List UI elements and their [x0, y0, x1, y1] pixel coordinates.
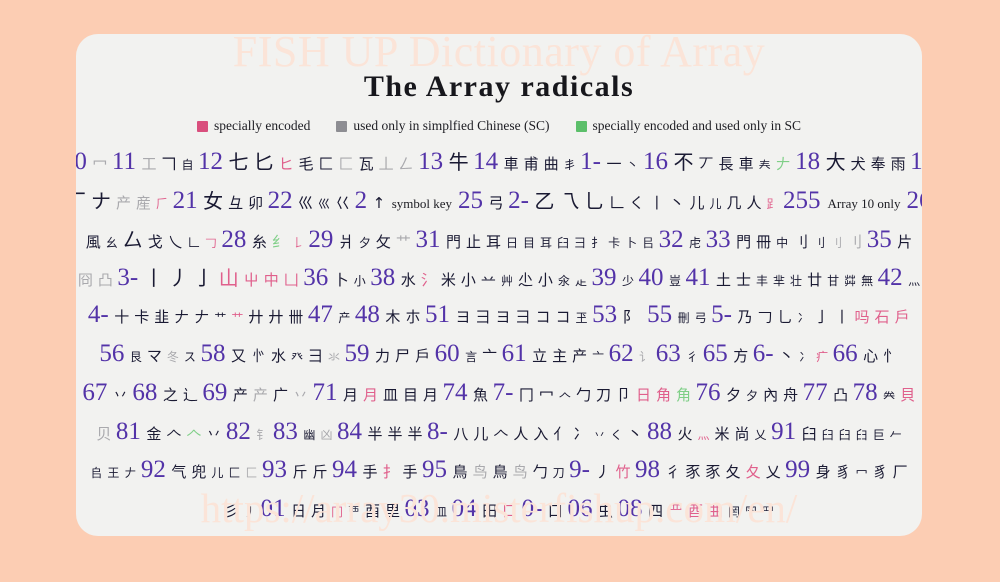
radical-glyph[interactable]: コ	[556, 306, 571, 327]
radical-glyph[interactable]: 刂	[793, 231, 808, 252]
radical-glyph[interactable]: 厂	[76, 185, 86, 214]
radical-code[interactable]: 59	[345, 340, 370, 368]
radical-glyph[interactable]: 冬	[167, 348, 179, 365]
radical-code[interactable]: 31	[415, 226, 440, 254]
radical-glyph[interactable]: 卡	[608, 234, 620, 251]
radical-glyph[interactable]: 丶	[669, 192, 684, 213]
radical-glyph[interactable]: 勹	[576, 384, 591, 405]
radical-glyph[interactable]: 丿	[244, 503, 256, 520]
radical-glyph[interactable]: 乚	[584, 185, 604, 214]
radical-glyph[interactable]: 臼	[822, 426, 834, 443]
radical-glyph[interactable]: 無	[861, 272, 873, 289]
radical-code[interactable]: 84	[337, 418, 362, 446]
radical-glyph[interactable]: 産	[136, 192, 151, 213]
radical-glyph[interactable]: 牛	[449, 146, 469, 175]
radical-glyph[interactable]: 主	[552, 345, 567, 366]
radical-glyph[interactable]: 艹	[214, 309, 226, 326]
radical-glyph[interactable]: 夂	[726, 461, 741, 482]
radical-glyph[interactable]: 丷	[593, 426, 605, 443]
radical-glyph[interactable]: 产	[233, 384, 248, 405]
radical-glyph[interactable]: マ	[147, 345, 162, 366]
radical-glyph[interactable]: 自	[181, 156, 193, 173]
radical-glyph[interactable]: 幺	[106, 234, 118, 251]
radical-glyph[interactable]: 丿	[169, 262, 189, 291]
radical-glyph[interactable]: 儿	[709, 195, 721, 212]
radical-glyph[interactable]: 貝	[900, 384, 915, 405]
radical-code[interactable]: 65	[703, 340, 728, 368]
radical-glyph[interactable]: 攵	[376, 231, 391, 252]
radical-glyph[interactable]: コ	[536, 306, 551, 327]
radical-code[interactable]: 03	[405, 495, 430, 523]
radical-glyph[interactable]: 氵	[421, 269, 436, 290]
radical-glyph[interactable]: 之	[163, 384, 178, 405]
radical-code[interactable]: 94	[332, 456, 357, 484]
radical-glyph[interactable]: 鳥	[493, 461, 508, 482]
radical-glyph[interactable]: 厂	[893, 461, 908, 482]
radical-glyph[interactable]: 凵	[284, 269, 299, 290]
radical-code[interactable]: 28	[221, 226, 246, 254]
radical-glyph[interactable]: 夂	[746, 461, 761, 482]
radical-glyph[interactable]: 壮	[790, 272, 802, 289]
radical-glyph[interactable]: 彑	[228, 192, 243, 213]
radical-glyph[interactable]: 又	[231, 345, 246, 366]
radical-glyph[interactable]: 㣺	[251, 345, 266, 366]
radical-code[interactable]: 71	[312, 379, 337, 407]
radical-glyph[interactable]: 車	[739, 153, 754, 174]
radical-glyph[interactable]: 田	[482, 500, 497, 521]
radical-code[interactable]: 29	[308, 226, 333, 254]
radical-code[interactable]: 08	[617, 495, 642, 523]
radical-glyph[interactable]: 𠃋	[399, 153, 414, 174]
radical-glyph[interactable]: 丷	[293, 384, 308, 405]
radical-glyph[interactable]: 豸	[873, 461, 888, 482]
radical-glyph[interactable]: 月	[423, 384, 438, 405]
radical-glyph[interactable]: 巜	[335, 192, 350, 213]
radical-glyph[interactable]: 艹	[396, 231, 411, 252]
radical-glyph[interactable]: 儿	[689, 192, 704, 213]
radical-glyph[interactable]: 月	[311, 500, 326, 521]
radical-glyph[interactable]: 甫	[524, 153, 539, 174]
radical-glyph[interactable]: 毛	[299, 153, 314, 174]
radical-glyph[interactable]: 身	[816, 461, 831, 482]
radical-glyph[interactable]: 豸	[836, 461, 851, 482]
radical-glyph[interactable]: 𠔉	[883, 387, 895, 404]
radical-glyph[interactable]: 辶	[183, 384, 198, 405]
radical-glyph[interactable]: 𠆢	[166, 423, 181, 444]
radical-glyph[interactable]: 𦥑	[856, 426, 868, 443]
radical-code[interactable]: 47	[308, 301, 333, 329]
radical-glyph[interactable]: 弓	[489, 192, 504, 213]
radical-glyph[interactable]: 几	[726, 192, 741, 213]
radical-glyph[interactable]: 犬	[851, 153, 866, 174]
radical-glyph[interactable]: 产	[572, 345, 587, 366]
radical-glyph[interactable]: 米	[715, 423, 730, 444]
radical-glyph[interactable]: 罓	[745, 503, 757, 520]
radical-code[interactable]: 78	[853, 379, 878, 407]
radical-glyph[interactable]: 刪	[678, 309, 690, 326]
radical-glyph[interactable]: く	[610, 426, 622, 443]
radical-glyph[interactable]: 廾	[248, 306, 263, 327]
radical-glyph[interactable]: 小	[461, 269, 476, 290]
radical-glyph[interactable]: 丨	[144, 262, 164, 291]
radical-glyph[interactable]: 雨	[891, 153, 906, 174]
radical-glyph[interactable]: 止	[466, 231, 481, 252]
radical-glyph[interactable]: 阝	[623, 306, 638, 327]
radical-glyph[interactable]: 尐	[518, 269, 533, 290]
radical-glyph[interactable]: 水	[271, 345, 286, 366]
radical-glyph[interactable]: 酉	[688, 500, 703, 521]
radical-glyph[interactable]: 幽	[303, 426, 315, 443]
radical-code[interactable]: 13	[418, 148, 443, 176]
radical-glyph[interactable]: 少	[622, 272, 634, 289]
radical-glyph[interactable]: 手	[363, 461, 378, 482]
radical-glyph[interactable]: 大	[826, 146, 846, 175]
radical-code[interactable]: 56	[99, 340, 124, 368]
radical-glyph[interactable]: 卯	[248, 192, 263, 213]
radical-glyph[interactable]: 𠂤	[90, 464, 102, 481]
radical-glyph[interactable]: 舟	[783, 384, 798, 405]
radical-glyph[interactable]: 艮	[130, 348, 142, 365]
radical-glyph[interactable]: 𠃌	[205, 234, 217, 251]
radical-glyph[interactable]: 罒	[762, 503, 774, 520]
radical-glyph[interactable]: 丷	[113, 384, 128, 405]
radical-code[interactable]: 77	[803, 379, 828, 407]
radical-glyph[interactable]: 角	[676, 384, 691, 405]
radical-code[interactable]: 06	[567, 495, 592, 523]
radical-glyph[interactable]: 匚	[339, 153, 354, 174]
radical-glyph[interactable]: 丶	[627, 423, 642, 444]
radical-code[interactable]: 4-	[88, 301, 109, 329]
radical-glyph[interactable]: 目	[403, 384, 418, 405]
radical-glyph[interactable]: 風	[86, 231, 101, 252]
radical-glyph[interactable]: 車	[504, 153, 519, 174]
radical-glyph[interactable]: 厶	[123, 224, 143, 253]
radical-glyph[interactable]: 𠂇	[124, 464, 136, 481]
radical-glyph[interactable]: 𠂇	[174, 306, 189, 327]
radical-code[interactable]: 0-	[522, 495, 543, 523]
radical-glyph[interactable]: 糸	[252, 231, 267, 252]
radical-glyph[interactable]: 亅	[815, 306, 830, 327]
radical-glyph[interactable]: 扌	[591, 234, 603, 251]
radical-glyph[interactable]: 內	[763, 384, 778, 405]
radical-glyph[interactable]: 扌	[383, 461, 398, 482]
radical-glyph[interactable]: 鸟	[473, 461, 488, 482]
radical-glyph[interactable]: 豕	[686, 461, 701, 482]
radical-code[interactable]: 53	[592, 301, 617, 329]
radical-glyph[interactable]: 兜	[191, 461, 206, 482]
radical-code[interactable]: 39	[591, 264, 616, 292]
radical-code[interactable]: 51	[425, 301, 450, 329]
radical-glyph[interactable]: 卜	[334, 269, 349, 290]
radical-glyph[interactable]: 彐	[475, 306, 490, 327]
radical-glyph[interactable]: 片	[897, 231, 912, 252]
radical-code[interactable]: 66	[833, 340, 858, 368]
radical-glyph[interactable]: 七	[229, 146, 249, 175]
radical-glyph[interactable]: 冫	[797, 309, 809, 326]
radical-glyph[interactable]: 戶	[415, 345, 430, 366]
radical-glyph[interactable]: 乚	[777, 306, 792, 327]
radical-glyph[interactable]: 目	[523, 234, 535, 251]
radical-glyph[interactable]: 士	[736, 269, 751, 290]
radical-glyph[interactable]: 皿	[383, 384, 398, 405]
radical-code[interactable]: 81	[116, 418, 141, 446]
radical-glyph[interactable]: 刂	[830, 234, 842, 251]
radical-glyph[interactable]: 𠄌	[292, 234, 304, 251]
radical-code[interactable]: 36	[303, 264, 328, 292]
radical-glyph[interactable]: 艹	[231, 309, 243, 326]
radical-code[interactable]: 38	[370, 264, 395, 292]
radical-glyph[interactable]: 𠂇	[194, 306, 209, 327]
radical-glyph[interactable]: 氽	[558, 272, 570, 289]
radical-glyph[interactable]: 月	[363, 384, 378, 405]
radical-glyph[interactable]: 彡	[224, 500, 239, 521]
radical-glyph[interactable]: 一	[607, 153, 622, 174]
radical-glyph[interactable]: 冫	[799, 348, 811, 365]
radical-glyph[interactable]: 冖	[856, 464, 868, 481]
radical-glyph[interactable]: 亠	[592, 348, 604, 365]
radical-glyph[interactable]: 女	[203, 185, 223, 214]
radical-glyph[interactable]: 鸟	[513, 461, 528, 482]
radical-glyph[interactable]: 日	[636, 384, 651, 405]
radical-glyph[interactable]: 方	[733, 345, 748, 366]
radical-glyph[interactable]: 儿	[211, 464, 223, 481]
radical-glyph[interactable]: 小	[538, 269, 553, 290]
radical-glyph[interactable]: 玊	[576, 309, 588, 326]
radical-glyph[interactable]: 贝	[96, 423, 111, 444]
radical-glyph[interactable]: 卜	[625, 234, 637, 251]
radical-glyph[interactable]: 彐	[516, 306, 531, 327]
radical-glyph[interactable]: ヨ	[455, 306, 470, 327]
radical-code[interactable]: 61	[502, 340, 527, 368]
radical-glyph[interactable]: 𠆢	[559, 387, 571, 404]
radical-code[interactable]: 2	[355, 187, 368, 215]
radical-glyph[interactable]: 冏	[78, 269, 93, 290]
radical-code[interactable]: 88	[647, 418, 672, 446]
radical-glyph[interactable]: 言	[465, 348, 477, 365]
radical-glyph[interactable]: 日	[291, 500, 306, 521]
radical-glyph[interactable]: 日	[506, 234, 518, 251]
radical-glyph[interactable]: 𠂆	[156, 195, 168, 212]
radical-code[interactable]: 11	[112, 148, 136, 176]
radical-glyph[interactable]: 甘	[827, 272, 839, 289]
radical-glyph[interactable]: 火	[677, 423, 692, 444]
radical-code[interactable]: 9-	[569, 456, 590, 484]
radical-glyph[interactable]: 匕	[254, 146, 274, 175]
radical-glyph[interactable]: 产	[253, 384, 268, 405]
radical-glyph[interactable]: 虫	[598, 500, 613, 521]
radical-glyph[interactable]: 丯	[564, 156, 576, 173]
radical-code[interactable]: 04	[452, 495, 477, 523]
radical-glyph[interactable]: 𠃊	[188, 234, 200, 251]
radical-glyph[interactable]: 𡗗	[759, 156, 771, 173]
radical-code[interactable]: 22	[268, 187, 293, 215]
radical-glyph[interactable]: 土	[716, 269, 731, 290]
radical-code[interactable]: 2-	[508, 187, 529, 215]
radical-code[interactable]: 68	[132, 379, 157, 407]
radical-glyph[interactable]: 虍	[689, 234, 701, 251]
radical-code[interactable]: 8-	[427, 418, 448, 446]
radical-glyph[interactable]: 刂	[813, 234, 825, 251]
radical-code[interactable]: 5-	[711, 301, 732, 329]
radical-glyph[interactable]: 屮	[244, 269, 259, 290]
radical-glyph[interactable]: 灬	[698, 426, 710, 443]
radical-glyph[interactable]: 口	[502, 500, 517, 521]
radical-code[interactable]: 93	[262, 456, 287, 484]
radical-glyph[interactable]: 彳	[686, 348, 698, 365]
radical-glyph[interactable]: 𠃊	[609, 192, 624, 213]
radical-glyph[interactable]: 臼	[839, 426, 851, 443]
radical-glyph[interactable]: 艸	[501, 272, 513, 289]
radical-glyph[interactable]: 丄	[379, 153, 394, 174]
radical-glyph[interactable]: 耳	[540, 234, 552, 251]
radical-code[interactable]: 82	[226, 418, 251, 446]
radical-glyph[interactable]: 广	[273, 384, 288, 405]
radical-glyph[interactable]: 卩	[616, 384, 631, 405]
radical-glyph[interactable]: 巛	[318, 195, 330, 212]
radical-glyph[interactable]: 竹	[615, 461, 630, 482]
radical-glyph[interactable]: 㠯	[642, 234, 654, 251]
radical-glyph[interactable]: 中	[264, 269, 279, 290]
radical-code[interactable]: 1-	[580, 148, 601, 176]
radical-glyph[interactable]: 小	[354, 272, 366, 289]
radical-glyph[interactable]: 产	[338, 309, 350, 326]
radical-code[interactable]: 58	[200, 340, 225, 368]
radical-glyph[interactable]: 豕	[706, 461, 721, 482]
radical-glyph[interactable]: 丆	[699, 153, 714, 174]
radical-glyph[interactable]: 疒	[816, 348, 828, 365]
radical-glyph[interactable]: 乀	[168, 231, 183, 252]
radical-glyph[interactable]: 力	[375, 345, 390, 366]
radical-glyph[interactable]: 十	[114, 306, 129, 327]
radical-code[interactable]: 255	[783, 187, 821, 215]
radical-glyph[interactable]: 臼	[802, 423, 817, 444]
radical-code[interactable]: 25	[458, 187, 483, 215]
radical-glyph[interactable]: 曲	[544, 153, 559, 174]
radical-code[interactable]: 95	[422, 456, 447, 484]
radical-glyph[interactable]: 纟	[272, 231, 287, 252]
radical-glyph[interactable]: 丰	[756, 272, 768, 289]
radical-glyph[interactable]: 八	[453, 423, 468, 444]
radical-glyph[interactable]: 彐	[308, 345, 323, 366]
radical-glyph[interactable]: 尚	[735, 423, 750, 444]
radical-glyph[interactable]: 亻	[553, 423, 568, 444]
radical-glyph[interactable]: 彐	[574, 234, 586, 251]
radical-glyph[interactable]: 不	[674, 146, 694, 175]
radical-glyph[interactable]: 冖	[92, 153, 107, 174]
radical-glyph[interactable]: 斤	[292, 461, 307, 482]
radical-glyph[interactable]: 𠂉	[890, 426, 902, 443]
radical-glyph[interactable]: 朩	[405, 306, 420, 327]
radical-code[interactable]: 67	[82, 379, 107, 407]
radical-code[interactable]: 7-	[493, 379, 514, 407]
radical-glyph[interactable]: 冊	[756, 231, 771, 252]
radical-glyph[interactable]: 丶	[779, 345, 794, 366]
radical-glyph[interactable]: 半	[387, 423, 402, 444]
radical-glyph[interactable]: 儿	[473, 423, 488, 444]
radical-glyph[interactable]: 夕	[359, 234, 371, 251]
radical-code[interactable]: 12	[198, 148, 223, 176]
radical-code[interactable]: 19	[910, 148, 922, 176]
radical-glyph[interactable]: 石	[875, 306, 890, 327]
radical-glyph[interactable]: 廾	[268, 306, 283, 327]
radical-glyph[interactable]: 乃	[737, 306, 752, 327]
radical-glyph[interactable]: く	[629, 192, 644, 213]
radical-code[interactable]: 62	[609, 340, 634, 368]
radical-code[interactable]: 32	[659, 226, 684, 254]
radical-glyph[interactable]: 龰	[575, 272, 587, 289]
radical-glyph[interactable]: 芈	[773, 272, 785, 289]
radical-glyph[interactable]: 气	[171, 461, 186, 482]
radical-glyph[interactable]: 丨	[835, 306, 850, 327]
radical-glyph[interactable]: 入	[533, 423, 548, 444]
radical-glyph[interactable]: 吗	[855, 306, 870, 327]
radical-glyph[interactable]: 乂	[755, 426, 767, 443]
radical-glyph[interactable]: 𠃍	[161, 153, 176, 174]
radical-glyph[interactable]: 斤	[312, 461, 327, 482]
radical-glyph[interactable]: ヨ	[495, 306, 510, 327]
radical-glyph[interactable]: 臼	[557, 234, 569, 251]
radical-code[interactable]: 48	[355, 301, 380, 329]
radical-code[interactable]: 18	[795, 148, 820, 176]
radical-glyph[interactable]: 冫	[573, 423, 588, 444]
radical-glyph[interactable]: 丶	[627, 156, 639, 173]
radical-code[interactable]: 6-	[753, 340, 774, 368]
radical-glyph[interactable]: 半	[407, 423, 422, 444]
radical-glyph[interactable]: 豈	[669, 272, 681, 289]
radical-glyph[interactable]: 凶	[320, 426, 332, 443]
radical-glyph[interactable]: 乁	[559, 185, 579, 214]
radical-glyph[interactable]: 長	[719, 153, 734, 174]
radical-glyph[interactable]: 耳	[486, 231, 501, 252]
radical-code[interactable]: 16	[643, 148, 668, 176]
radical-code[interactable]: 10	[76, 148, 87, 176]
radical-code[interactable]: 92	[141, 456, 166, 484]
radical-glyph[interactable]: 王	[107, 464, 119, 481]
radical-code[interactable]: 83	[273, 418, 298, 446]
radical-code[interactable]: 41	[685, 264, 710, 292]
radical-code[interactable]: 01	[260, 495, 285, 523]
radical-glyph[interactable]: 爿	[339, 231, 354, 252]
radical-glyph[interactable]: 人	[747, 192, 762, 213]
radical-glyph[interactable]: 四	[648, 500, 663, 521]
radical-glyph[interactable]: 丷	[206, 423, 221, 444]
radical-glyph[interactable]: ↑	[373, 194, 386, 212]
radical-glyph[interactable]: 忄	[883, 345, 898, 366]
radical-glyph[interactable]: 𠃌	[757, 306, 772, 327]
radical-glyph[interactable]: 茻	[844, 272, 856, 289]
radical-code[interactable]: 63	[656, 340, 681, 368]
radical-glyph[interactable]: 立	[532, 345, 547, 366]
radical-code[interactable]: 14	[473, 148, 498, 176]
radical-glyph[interactable]: 鳥	[453, 461, 468, 482]
radical-glyph[interactable]: 弓	[695, 309, 707, 326]
radical-glyph[interactable]: 冂	[519, 384, 534, 405]
radical-glyph[interactable]: 廿	[807, 269, 822, 290]
radical-glyph[interactable]: 工	[141, 153, 156, 174]
radical-glyph[interactable]: 巛	[298, 192, 313, 213]
radical-glyph[interactable]: 金	[146, 423, 161, 444]
radical-glyph[interactable]: 瓦	[359, 153, 374, 174]
radical-glyph[interactable]: 酉	[365, 500, 380, 521]
radical-glyph[interactable]: 乂	[766, 461, 781, 482]
radical-glyph[interactable]: 口	[548, 500, 563, 521]
radical-glyph[interactable]: 匚	[245, 464, 257, 481]
radical-glyph[interactable]: 刂	[847, 231, 862, 252]
radical-glyph[interactable]: 韭	[154, 306, 169, 327]
radical-glyph[interactable]: ス	[184, 348, 196, 365]
radical-glyph[interactable]: 癶	[291, 348, 303, 365]
radical-code[interactable]: 40	[638, 264, 663, 292]
